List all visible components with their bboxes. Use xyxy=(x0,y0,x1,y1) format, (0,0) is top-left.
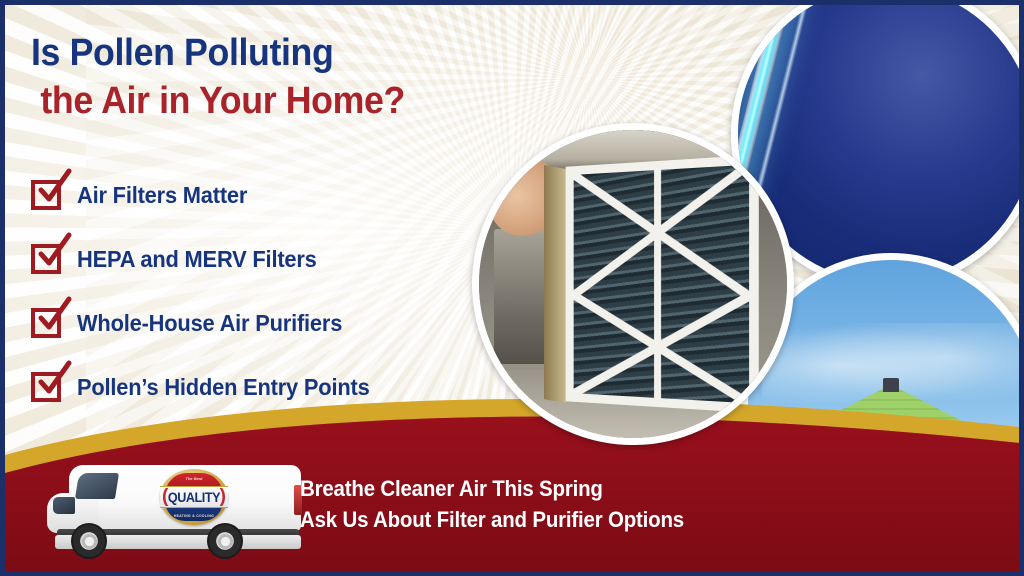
checkbox-checked-icon xyxy=(31,244,61,274)
headline-line-1: Is Pollen Polluting xyxy=(31,29,473,77)
filter-side-edge xyxy=(544,165,566,403)
banner-text-block: Breathe Cleaner Air This Spring Ask Us A… xyxy=(300,473,713,535)
checkbox-checked-icon xyxy=(31,180,61,210)
van-side-window xyxy=(53,497,75,514)
logo-right-paren-icon: ) xyxy=(220,487,226,507)
checklist: Air Filters Matter HEPA and MERV Filters… xyxy=(31,163,461,419)
checklist-item-label: Whole-House Air Purifiers xyxy=(77,310,342,337)
checklist-item: Pollen’s Hidden Entry Points xyxy=(31,355,461,419)
van-front-wheel xyxy=(71,523,107,559)
checklist-item: HEPA and MERV Filters xyxy=(31,227,461,291)
logo-name-band: QUALITY xyxy=(160,486,228,508)
company-logo: The Best QUALITY ( ) HEATING & COOLING xyxy=(160,469,228,525)
checklist-item-label: HEPA and MERV Filters xyxy=(77,246,317,273)
infographic-canvas: Is Pollen Polluting the Air in Your Home… xyxy=(0,0,1024,576)
checklist-item-label: Air Filters Matter xyxy=(77,182,247,209)
logo-top-text: The Best xyxy=(160,476,228,481)
banner-line-2: Ask Us About Filter and Purifier Options xyxy=(300,504,684,535)
checklist-item-label: Pollen’s Hidden Entry Points xyxy=(77,374,370,401)
logo-wordmark: QUALITY xyxy=(168,489,220,505)
van-windshield xyxy=(75,473,119,499)
checklist-item: Air Filters Matter xyxy=(31,163,461,227)
checkbox-checked-icon xyxy=(31,308,61,338)
logo-tagline: HEATING & COOLING xyxy=(160,514,228,518)
checkbox-checked-icon xyxy=(31,372,61,402)
van-rear-wheel xyxy=(207,523,243,559)
headline-line-2: the Air in Your Home? xyxy=(31,77,473,125)
headline-block: Is Pollen Polluting the Air in Your Home… xyxy=(31,29,501,125)
logo-left-paren-icon: ( xyxy=(162,487,168,507)
air-filter-photo xyxy=(472,123,794,445)
company-service-van: The Best QUALITY ( ) HEATING & COOLING xyxy=(47,455,302,559)
banner-line-1: Breathe Cleaner Air This Spring xyxy=(300,473,684,504)
checklist-item: Whole-House Air Purifiers xyxy=(31,291,461,355)
filter-frame-bracing xyxy=(566,154,759,413)
